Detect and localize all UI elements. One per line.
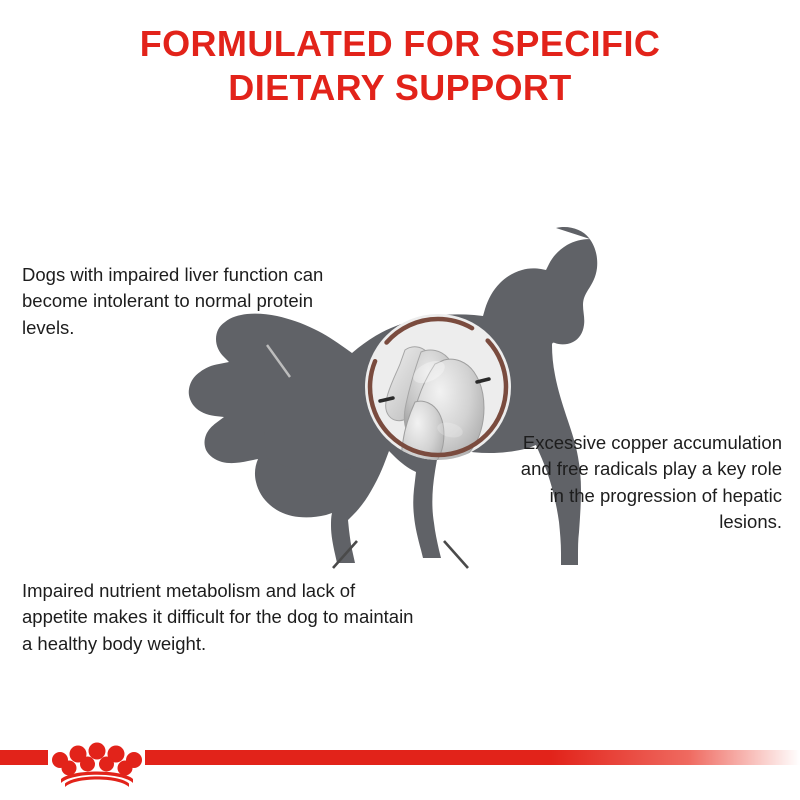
brand-bar-right-segment bbox=[145, 750, 800, 765]
callout-top-left-text: Dogs with impaired liver function can be… bbox=[22, 262, 332, 341]
brand-bar-left-segment bbox=[0, 750, 48, 765]
callout-top-left: Dogs with impaired liver function can be… bbox=[22, 262, 332, 341]
callout-right: Excessive copper accumulation and free r… bbox=[517, 430, 782, 535]
callout-bottom-left-text: Impaired nutrient metabolism and lack of… bbox=[22, 578, 422, 657]
royal-canin-crown-icon bbox=[48, 737, 146, 787]
infographic-page: FORMULATED FOR SPECIFIC DIETARY SUPPORT bbox=[0, 0, 800, 800]
callout-bottom-left: Impaired nutrient metabolism and lack of… bbox=[22, 578, 422, 657]
callout-right-text: Excessive copper accumulation and free r… bbox=[517, 430, 782, 535]
dog-illustration bbox=[0, 0, 800, 800]
brand-footer bbox=[0, 735, 800, 800]
